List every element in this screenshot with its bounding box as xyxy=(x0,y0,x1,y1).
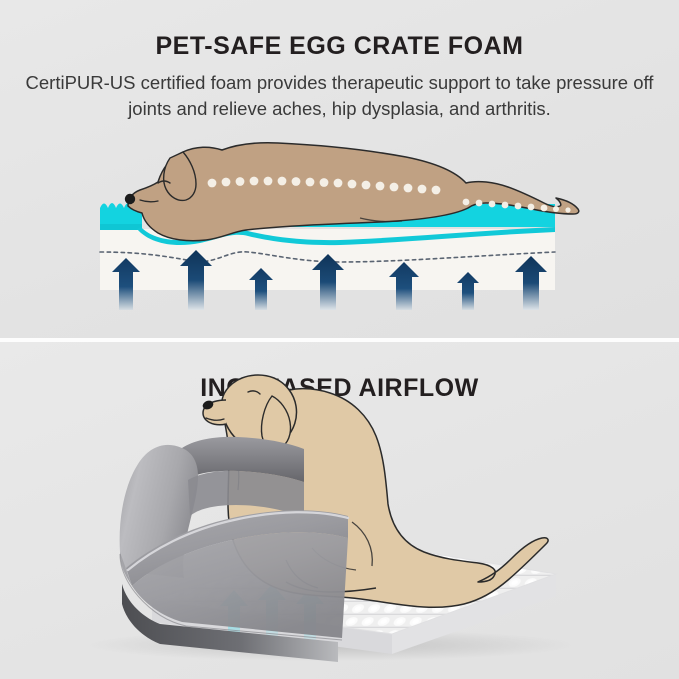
dog-nose-icon xyxy=(125,194,135,204)
section-increased-airflow: INCREASED AIRFLOW xyxy=(0,342,679,679)
section-divider xyxy=(0,338,679,342)
illustration-dog-lying-on-foam-cross-section xyxy=(0,0,679,340)
section-pet-safe-egg-crate-foam: PET-SAFE EGG CRATE FOAM CertiPUR-US cert… xyxy=(0,0,679,340)
illustration-dog-on-bolster-bed: CertiPUR-US® CONTAINS CERTIFIED FLEXIBLE… xyxy=(0,342,679,679)
